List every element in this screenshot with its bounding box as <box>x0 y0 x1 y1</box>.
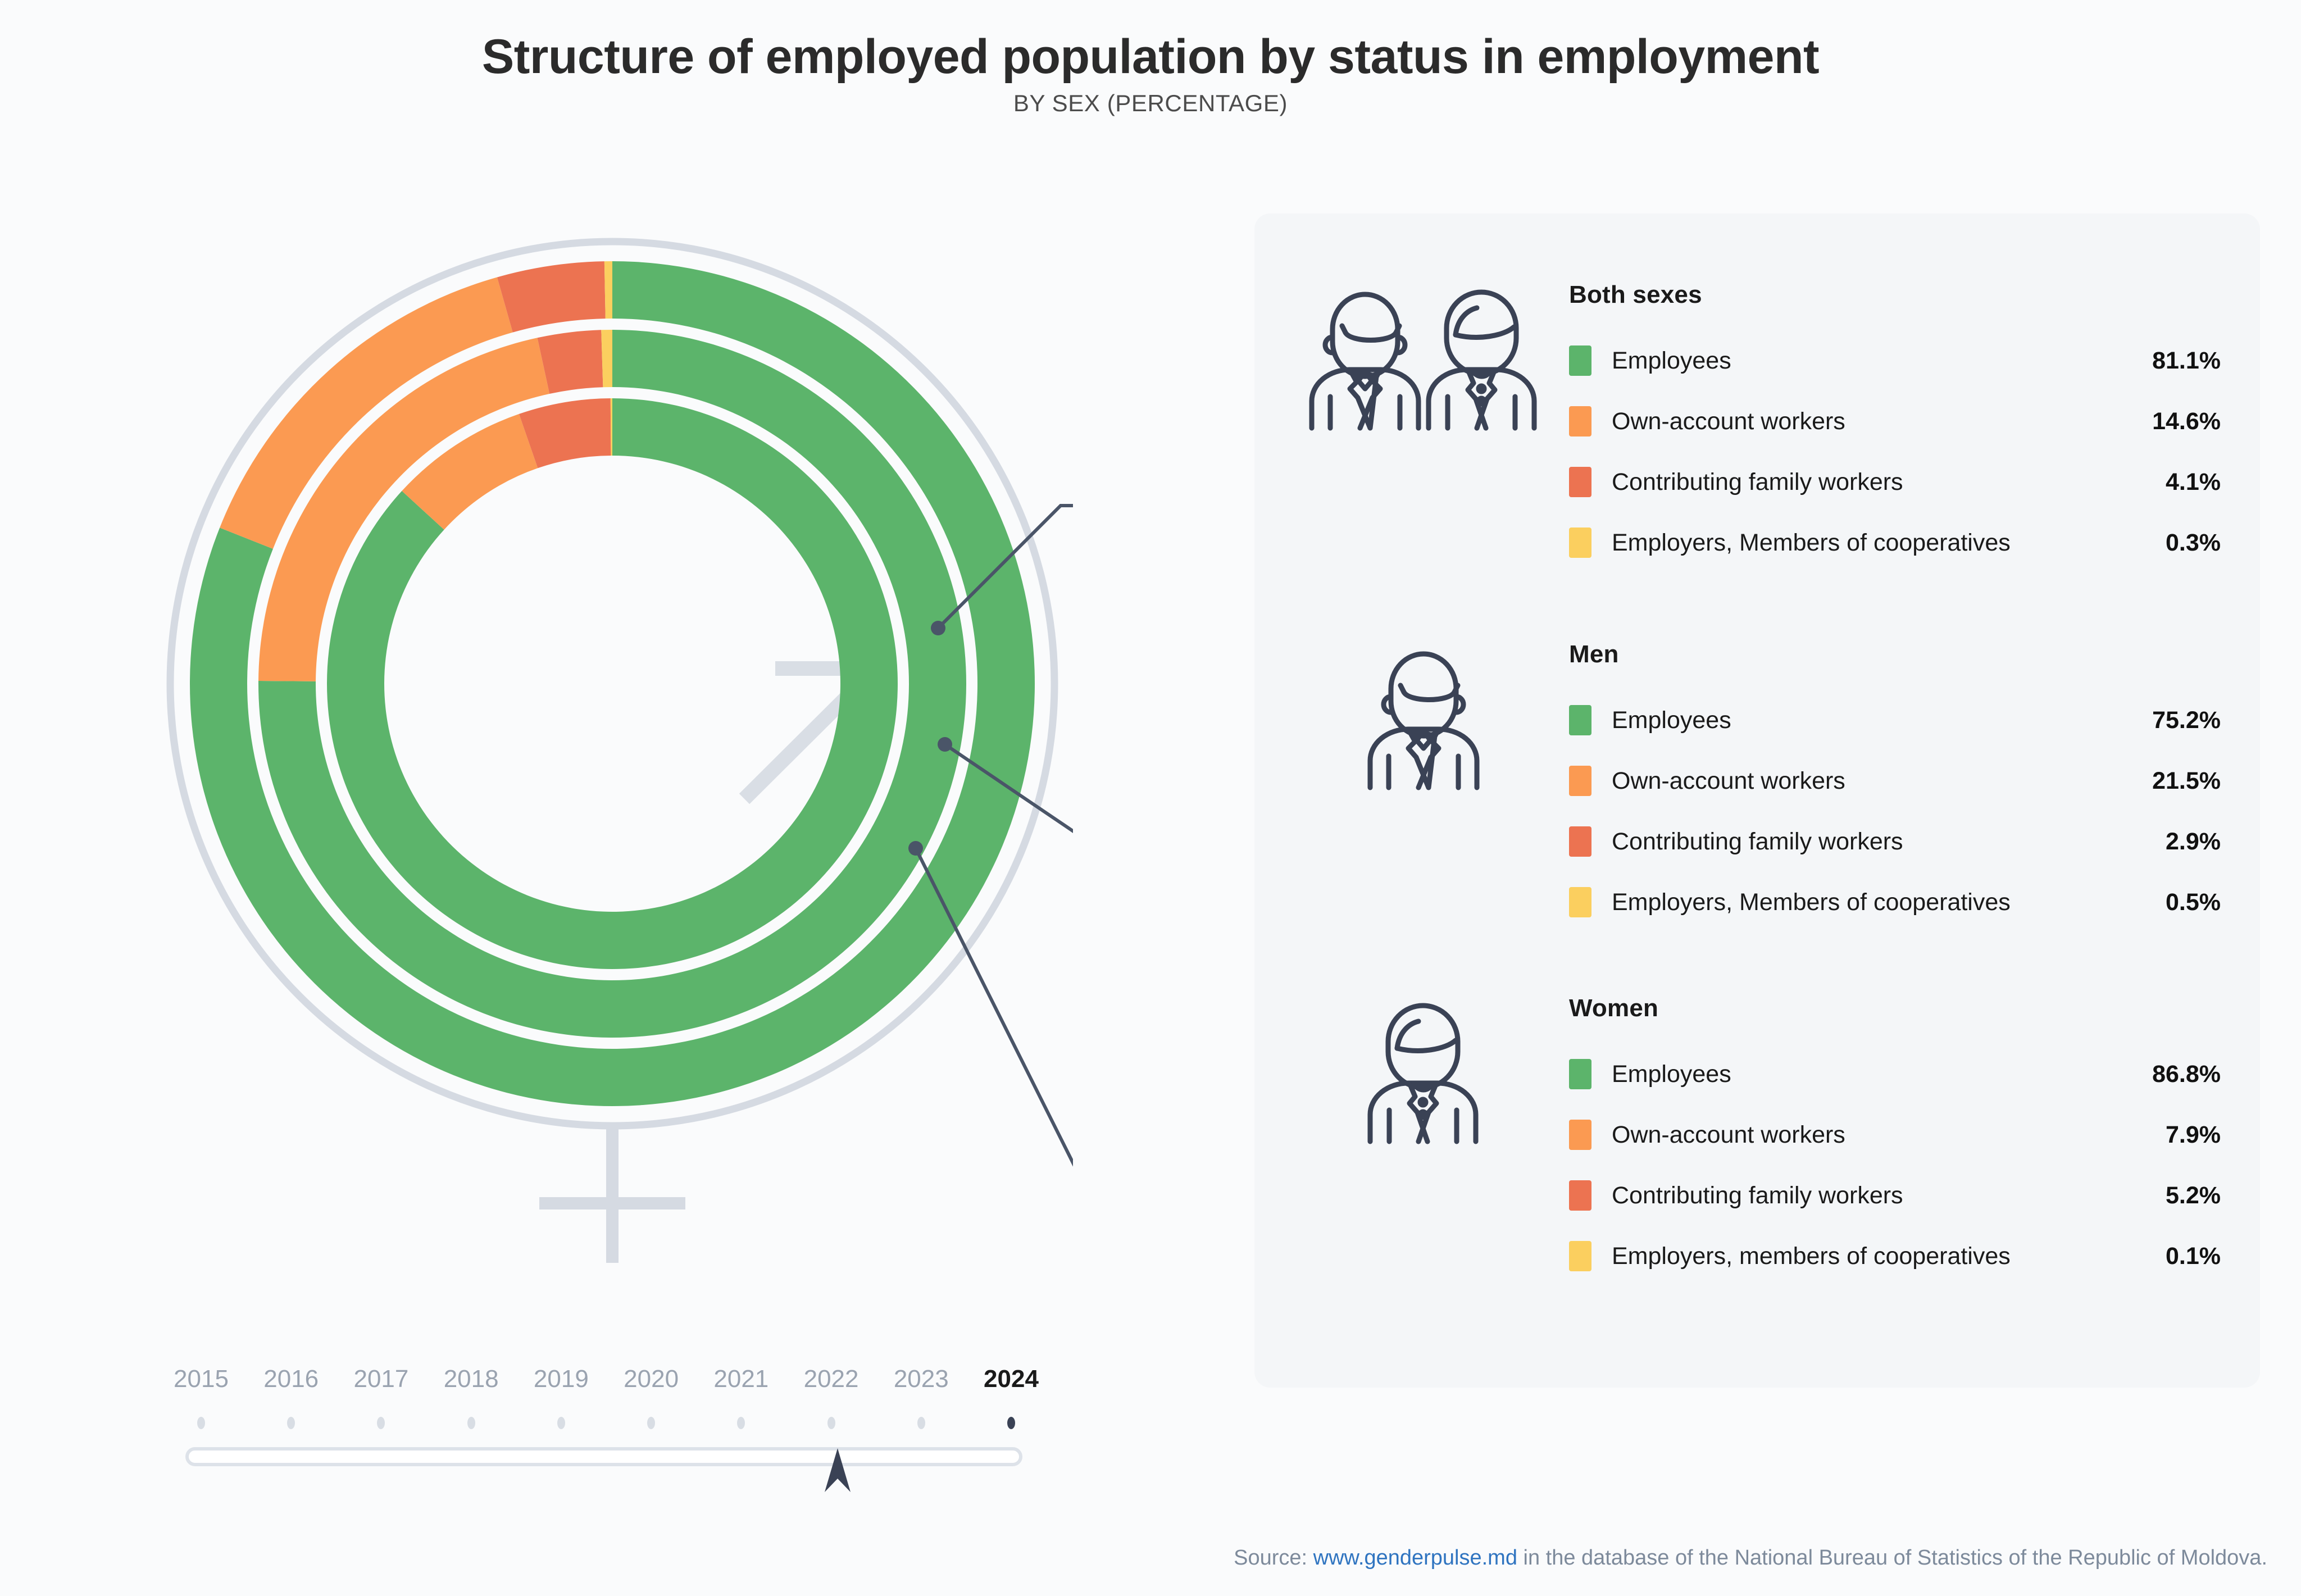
legend-row[interactable]: Employers, members of cooperatives 0.1% <box>1569 1226 2221 1286</box>
timeline-track[interactable] <box>185 1447 1022 1466</box>
year-ticks[interactable] <box>185 1417 1062 1439</box>
legend-label: Employees <box>1612 347 1731 375</box>
legend-value: 86.8% <box>2152 1061 2221 1088</box>
donut-segment[interactable] <box>604 261 612 319</box>
legend-label: Contributing family workers <box>1612 828 1903 856</box>
legend-label: Employers, Members of cooperatives <box>1612 889 2011 916</box>
legend-value: 21.5% <box>2152 767 2221 795</box>
year-label-2020[interactable]: 2020 <box>624 1365 679 1393</box>
legend-row[interactable]: Employees 81.1% <box>1569 330 2221 391</box>
legend-body-men: Men Employees 75.2% Own-account workers … <box>1569 640 2221 933</box>
year-label-2015[interactable]: 2015 <box>174 1365 229 1393</box>
legend-label: Contributing family workers <box>1612 1182 1903 1209</box>
year-tick-2017[interactable] <box>377 1417 385 1429</box>
year-timeline[interactable]: 2015201620172018201920202021202220232024… <box>185 1365 1062 1477</box>
legend-swatch-employees <box>1569 345 1591 376</box>
year-labels[interactable]: 2015201620172018201920202021202220232024 <box>185 1365 1062 1399</box>
legend-row[interactable]: Employers, Members of cooperatives 0.5% <box>1569 872 2221 933</box>
legend-swatch-contributing-family-workers <box>1569 1180 1591 1211</box>
legend-row[interactable]: Employees 86.8% <box>1569 1044 2221 1104</box>
legend-swatch-own-account-workers <box>1569 766 1591 796</box>
legend-panel: Both sexes Employees 81.1% Own-account w… <box>1254 213 2260 1388</box>
legend-group-title: Men <box>1569 640 2221 669</box>
legend-row[interactable]: Own-account workers 7.9% <box>1569 1104 2221 1165</box>
legend-swatch-own-account-workers <box>1569 406 1591 436</box>
year-tick-2015[interactable] <box>197 1417 205 1429</box>
year-tick-2021[interactable] <box>737 1417 745 1429</box>
legend-value: 5.2% <box>2166 1182 2221 1209</box>
year-tick-2020[interactable] <box>647 1417 655 1429</box>
legend-row[interactable]: Own-account workers 14.6% <box>1569 391 2221 452</box>
woman-icon <box>1365 994 1484 1149</box>
timeline-slider-handle[interactable] <box>825 1448 851 1492</box>
legend-body-both-sexes: Both sexes Employees 81.1% Own-account w… <box>1569 281 2221 573</box>
source-link[interactable]: www.genderpulse.md <box>1313 1546 1517 1570</box>
year-label-2021[interactable]: 2021 <box>713 1365 768 1393</box>
man-icon <box>1365 640 1484 795</box>
legend-swatch-contributing-family-workers <box>1569 826 1591 857</box>
legend-swatch-own-account-workers <box>1569 1120 1591 1150</box>
legend-value: 0.1% <box>2166 1243 2221 1270</box>
year-tick-2018[interactable] <box>467 1417 475 1429</box>
legend-value: 75.2% <box>2152 707 2221 734</box>
legend-value: 0.5% <box>2166 889 2221 916</box>
legend-label: Own-account workers <box>1612 408 1845 435</box>
year-tick-2019[interactable] <box>557 1417 565 1429</box>
legend-label: Employees <box>1612 1061 1731 1088</box>
legend-body-women: Women Employees 86.8% Own-account worker… <box>1569 994 2221 1286</box>
legend-row[interactable]: Contributing family workers 2.9% <box>1569 811 2221 872</box>
legend-swatch-employers-cooperatives <box>1569 887 1591 917</box>
source-suffix: in the database of the National Bureau o… <box>1517 1546 2267 1570</box>
year-tick-2023[interactable] <box>917 1417 925 1429</box>
legend-swatch-contributing-family-workers <box>1569 467 1591 497</box>
legend-label: Employers, Members of cooperatives <box>1612 529 2011 557</box>
multi-ring-donut-chart[interactable] <box>152 225 1073 1281</box>
legend-swatch-employers-cooperatives <box>1569 1241 1591 1271</box>
year-label-2019[interactable]: 2019 <box>534 1365 589 1393</box>
legend-value: 4.1% <box>2166 469 2221 496</box>
legend-group-title: Women <box>1569 994 2221 1022</box>
legend-swatch-employees <box>1569 705 1591 735</box>
year-label-2016[interactable]: 2016 <box>263 1365 319 1393</box>
year-label-2018[interactable]: 2018 <box>444 1365 499 1393</box>
legend-label: Own-account workers <box>1612 767 1845 795</box>
legend-label: Contributing family workers <box>1612 469 1903 496</box>
legend-label: Employers, members of cooperatives <box>1612 1243 2011 1270</box>
year-label-2022[interactable]: 2022 <box>804 1365 859 1393</box>
legend-row[interactable]: Own-account workers 21.5% <box>1569 751 2221 811</box>
donut-rings[interactable] <box>190 261 1035 1106</box>
legend-swatch-employees <box>1569 1059 1591 1089</box>
year-tick-2022[interactable] <box>827 1417 835 1429</box>
legend-label: Employees <box>1612 707 1731 734</box>
year-label-2024[interactable]: 2024 <box>984 1365 1039 1393</box>
source-note: Source: www.genderpulse.md in the databa… <box>1234 1546 2267 1570</box>
page-subtitle: BY SEX (PERCENTAGE) <box>0 90 2301 117</box>
two-people-icon <box>1306 281 1542 435</box>
legend-group-title: Both sexes <box>1569 281 2221 309</box>
legend-value: 14.6% <box>2152 408 2221 435</box>
year-label-2017[interactable]: 2017 <box>353 1365 408 1393</box>
legend-value: 7.9% <box>2166 1121 2221 1149</box>
legend-value: 81.1% <box>2152 347 2221 375</box>
legend-row[interactable]: Employees 75.2% <box>1569 690 2221 751</box>
legend-row[interactable]: Contributing family workers 5.2% <box>1569 1165 2221 1226</box>
year-tick-2024[interactable] <box>1007 1417 1015 1429</box>
legend-label: Own-account workers <box>1612 1121 1845 1149</box>
legend-row[interactable]: Employers, Members of cooperatives 0.3% <box>1569 512 2221 573</box>
donut-segment[interactable] <box>497 261 606 332</box>
year-label-2023[interactable]: 2023 <box>894 1365 949 1393</box>
legend-row[interactable]: Contributing family workers 4.1% <box>1569 452 2221 512</box>
year-tick-2016[interactable] <box>287 1417 295 1429</box>
source-prefix: Source: <box>1234 1546 1313 1570</box>
legend-value: 0.3% <box>2166 529 2221 557</box>
legend-swatch-employers-cooperatives <box>1569 528 1591 558</box>
infographic-root: Structure of employed population by stat… <box>0 0 2301 1596</box>
page-title: Structure of employed population by stat… <box>0 29 2301 85</box>
donut-segment[interactable] <box>601 330 612 387</box>
legend-value: 2.9% <box>2166 828 2221 856</box>
